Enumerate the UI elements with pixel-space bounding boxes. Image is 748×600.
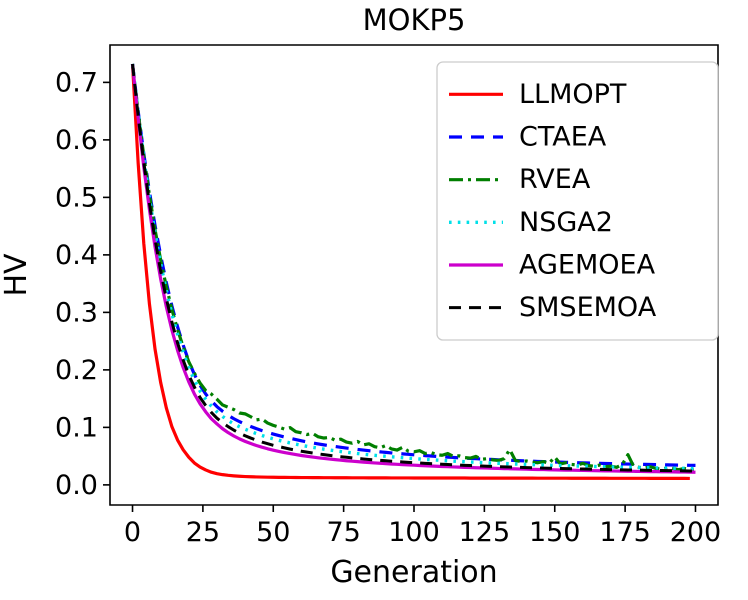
y-tick-label: 0.6 xyxy=(55,125,98,156)
y-tick-label: 0.7 xyxy=(55,67,98,98)
x-tick-label: 25 xyxy=(186,517,220,548)
y-tick-label: 0.3 xyxy=(55,297,98,328)
legend-label-llmopt: LLMOPT xyxy=(519,79,627,110)
y-tick-label: 0.2 xyxy=(55,355,98,386)
x-tick-label: 200 xyxy=(670,517,722,548)
legend-label-rvea: RVEA xyxy=(519,164,591,195)
y-tick-label: 0.5 xyxy=(55,182,98,213)
legend-label-ctaea: CTAEA xyxy=(519,122,607,153)
y-axis-title: HV xyxy=(0,253,34,297)
hv-convergence-chart: MOKP5 02550751001251501752000.00.10.20.3… xyxy=(0,0,748,600)
y-tick-label: 0.0 xyxy=(55,470,98,501)
legend-label-agemoea: AGEMOEA xyxy=(519,250,656,281)
y-tick-label: 0.1 xyxy=(55,412,98,443)
y-tick-label: 0.4 xyxy=(55,240,98,271)
x-tick-label: 175 xyxy=(599,517,651,548)
x-tick-label: 0 xyxy=(124,517,141,548)
chart-title: MOKP5 xyxy=(363,3,466,37)
x-tick-label: 150 xyxy=(529,517,581,548)
x-axis-title: Generation xyxy=(330,555,497,590)
legend-label-nsga2: NSGA2 xyxy=(519,207,613,238)
x-tick-label: 50 xyxy=(256,517,290,548)
legend-label-smsemoa: SMSEMOA xyxy=(519,292,657,323)
x-tick-label: 125 xyxy=(459,517,511,548)
chart-legend[interactable]: LLMOPTCTAEARVEANSGA2AGEMOEASMSEMOA xyxy=(437,62,718,340)
figure-container: MOKP5 02550751001251501752000.00.10.20.3… xyxy=(0,0,748,600)
x-tick-label: 100 xyxy=(388,517,440,548)
x-tick-label: 75 xyxy=(326,517,360,548)
